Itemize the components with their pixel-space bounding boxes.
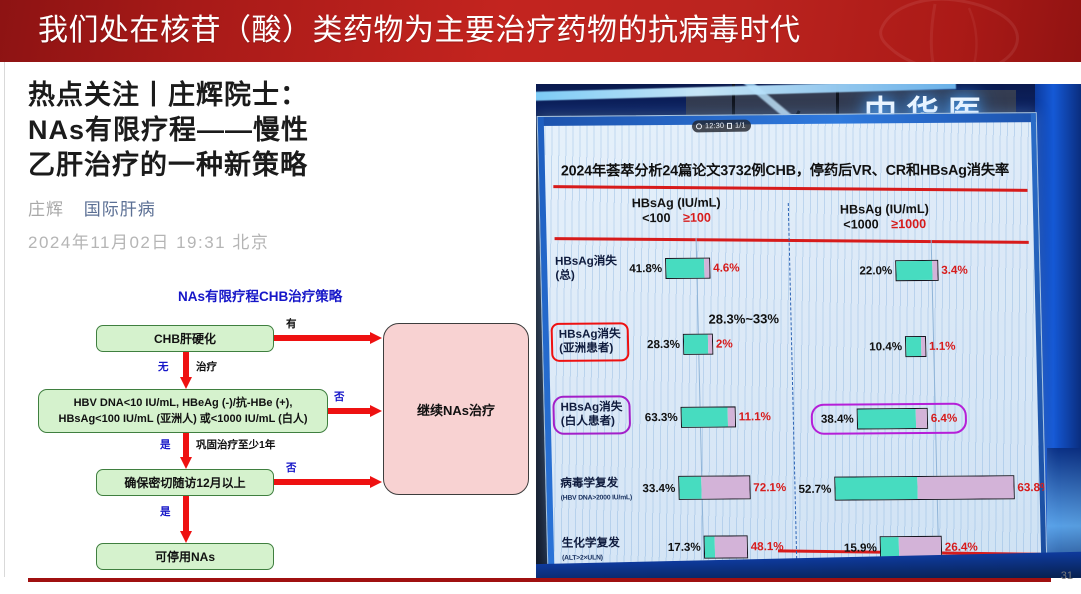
arrow-label-has-cirrhosis: 有 [286,316,297,331]
criteria-line-2: HBsAg<100 IU/mL (亚洲人) 或<1000 IU/mL (白人) [59,411,308,427]
flow-node-stop-label: 可停用NAs [155,549,215,565]
row-label-highlighted-red: HBsAg消失 (亚洲患者) [551,322,630,362]
row-label-footnote: (HBV DNA>2000 IU/mL) [561,491,633,506]
row-label: HBsAg消失 (总) [555,254,618,282]
bar-segment-high [704,259,709,278]
flow-node-criteria: HBV DNA<10 IU/mL, HBeAg (-)/抗-HBe (+), H… [38,389,328,433]
bar-segment-low [681,408,727,427]
clock-icon [696,123,702,129]
bar-segment-high [727,407,734,426]
row-label: 病毒学复发 (HBV DNA>2000 IU/mL) [560,476,632,506]
bar-segment-low [704,537,714,558]
flow-node-continue-label: 继续NAs治疗 [417,400,495,419]
bar-segment-low [666,259,704,278]
arrow-followup-to-stop [180,496,192,543]
bar-segment-low [835,477,918,500]
arrow-label-criteria-yes: 是 [160,437,171,452]
timestamp-time: 12:30 [705,121,724,130]
row-label-sub: (亚洲患者) [559,341,613,354]
flowchart-title: NAs有限疗程CHB治疗策略 [178,285,342,305]
publication-source[interactable]: 国际肝病 [84,200,156,219]
article-headline: 热点关注丨庄辉院士： NAs有限疗程——慢性 乙肝治疗的一种新策略 [28,78,518,183]
projected-slide: 2024年荟萃分析24篇论文3732例CHB，停药后VR、CR和HBsAg消失率… [537,112,1048,568]
bar-value-high: 6.4% [931,412,958,425]
column-group-2-title: HBsAg (IU/mL) [840,202,929,218]
bar-group-left: 17.3% 48.1% [668,535,784,559]
bar-value-low: 15.9% [844,541,877,554]
column-group-2-low: <1000 [843,217,879,231]
bar-segment-high [701,476,750,498]
article-byline: 庄辉 国际肝病 [28,195,518,220]
column-group-1-title: HBsAg (IU/mL) [632,196,721,212]
bar [680,406,735,427]
bar-value-high: 63.8% [1017,480,1047,493]
flow-node-followup: 确保密切随访12月以上 [96,469,274,496]
headline-line-3: 乙肝治疗的一种新策略 [28,148,518,183]
criteria-line-1: HBV DNA<10 IU/mL, HBeAg (-)/抗-HBe (+), [74,395,293,411]
arrow-label-treat: 治疗 [196,359,217,374]
bar-value-low: 33.4% [642,481,675,494]
bar-group-right: 10.4% 1.1% [869,336,956,358]
bar-group-left: 28.3% 2% [647,333,733,355]
flow-node-chb-cirrhosis: CHB肝硬化 [96,325,274,352]
arrow-criteria-to-followup [180,433,192,469]
row-label-main: HBsAg消失 [559,327,621,340]
conference-photo: 中华医 2024年荟萃分析24篇论文3732例CHB，停药后VR、CR和HBsA… [536,84,1081,578]
article-timestamp: 2024年11月02日 19:31 北京 [28,228,518,253]
chart-row: 病毒学复发 (HBV DNA>2000 IU/mL) 33.4% 72.1% 5… [546,471,1047,521]
bar-segment-high [932,261,937,280]
column-group-1-high: ≥100 [683,211,711,225]
bar-group-right: 22.0% 3.4% [859,260,968,282]
bar-group-right-highlighted: 38.4% 6.4% [811,403,968,435]
bar-segment-high [714,536,746,557]
row-label-main: 病毒学复发 [560,476,618,489]
chart-row: HBsAg消失 (亚洲患者) 28.3% 2% 10.4% [543,323,1044,373]
headline-line-1: 热点关注丨庄辉院士： [28,78,518,113]
flow-node-chb-label: CHB肝硬化 [154,331,216,347]
projected-slide-top-border [538,113,1038,126]
bar-segment-low [906,337,921,356]
bar-value-high: 26.4% [945,541,978,554]
bar-value-low: 28.3% [647,338,680,351]
chart-rule-top [553,185,1027,191]
arrow-cirrhosis-to-criteria [180,352,192,389]
row-label-main: HBsAg消失 [560,400,622,413]
row-label-sub: (总) [555,269,575,282]
page-number: 31 [1061,570,1073,582]
treatment-flowchart: NAs有限疗程CHB治疗策略 CHB肝硬化 HBV DNA<10 IU/mL, … [28,285,528,580]
bar [895,260,938,281]
headline-line-2: NAs有限疗程——慢性 [28,113,518,148]
bar-group-left: 41.8% 4.6% [629,257,740,279]
footer-rule [28,578,1051,582]
slide-canvas: 我们处在核苷（酸）类药物为主要治疗药物的抗病毒时代 热点关注丨庄辉院士： NAs… [0,0,1081,594]
bar-value-high: 11.1% [739,410,772,423]
page-counter-icon [727,122,732,128]
chart-row: HBsAg消失 (白人患者) 63.3% 11.1% 38.4% [544,396,1045,446]
row-label-main: HBsAg消失 [555,254,617,267]
row-label-highlighted-purple: HBsAg消失 (白人患者) [552,395,631,435]
bar-segment-low [858,409,916,428]
bar-value-low: 63.3% [645,411,678,424]
column-group-1-low: <100 [642,211,671,225]
bar-value-low: 17.3% [668,541,701,554]
row-label: 生化学复发 (ALT>2×ULN) [562,536,621,565]
chart-title: 2024年荟萃分析24篇论文3732例CHB，停药后VR、CR和HBsAg消失率 [561,159,1031,181]
timestamp-counter: 1/1 [735,121,746,130]
arrow-label-consolidate: 巩固治疗至少1年 [196,437,275,452]
bar-value-high: 3.4% [941,264,968,277]
liver-watermark-icon [873,0,1023,62]
flow-node-followup-label: 确保密切随访12月以上 [124,475,245,491]
column-group-2-high: ≥1000 [891,217,926,231]
bar-group-right: 52.7% 63.8% [798,475,1047,501]
bar-segment-high [708,335,712,354]
chart-rule-header [555,237,1029,243]
bar-segment-high [921,337,925,356]
arrow-label-followup-no: 否 [286,460,297,475]
bar-value-low: 38.4% [821,413,854,426]
bar-group-left: 33.4% 72.1% [642,475,786,500]
chart-row: HBsAg消失 (总) 41.8% 4.6% 22.0% [541,249,1042,299]
bar-segment-low [896,261,932,280]
arrow-criteria-to-continue [328,405,382,417]
arrow-cirrhosis-to-continue [274,332,382,344]
bar-value-low: 22.0% [859,264,892,277]
bar [834,475,1015,500]
flow-node-continue-nas: 继续NAs治疗 [383,323,529,495]
bar-value-high: 48.1% [751,540,784,553]
left-edge-divider [4,62,5,577]
bar-segment-high [917,476,1014,499]
bar [703,535,748,558]
article-header: 热点关注丨庄辉院士： NAs有限疗程——慢性 乙肝治疗的一种新策略 庄辉 国际肝… [28,78,518,253]
bar-segment-low [684,335,708,354]
arrow-label-no-cirrhosis: 无 [158,359,169,374]
bar [678,475,751,500]
bar [857,408,929,430]
bar-value-high: 1.1% [929,340,956,353]
bar-group-left: 63.3% 11.1% [645,406,772,428]
bar [683,334,713,355]
bar-value-low: 41.8% [629,262,662,275]
row-label-main: 生化学复发 [562,536,620,549]
author-name: 庄辉 [28,200,64,219]
bar-value-high: 72.1% [753,481,786,494]
column-group-2-header: HBsAg (IU/mL) <1000 ≥1000 [840,202,930,233]
bar-segment-low [679,477,702,499]
arrow-followup-to-continue [274,476,382,488]
bar-value-high: 2% [716,337,733,350]
arrow-label-criteria-no: 否 [334,389,345,404]
arrow-label-followup-yes: 是 [160,504,171,519]
video-timestamp-badge: 12:30 1/1 [692,119,751,132]
row-label-sub: (白人患者) [561,414,615,427]
column-group-1-header: HBsAg (IU/mL) <100 ≥100 [632,196,722,227]
bar [665,258,710,279]
page-title: 我们处在核苷（酸）类药物为主要治疗药物的抗病毒时代 [38,12,801,50]
flow-node-stop-nas: 可停用NAs [96,543,274,570]
bar-value-high: 4.6% [713,261,740,274]
bar-segment-high [916,409,927,428]
bar-value-low: 52.7% [798,482,831,495]
bar [905,336,926,357]
bar-value-low: 10.4% [869,340,902,353]
slide-title-bar: 我们处在核苷（酸）类药物为主要治疗药物的抗病毒时代 [0,0,1081,62]
